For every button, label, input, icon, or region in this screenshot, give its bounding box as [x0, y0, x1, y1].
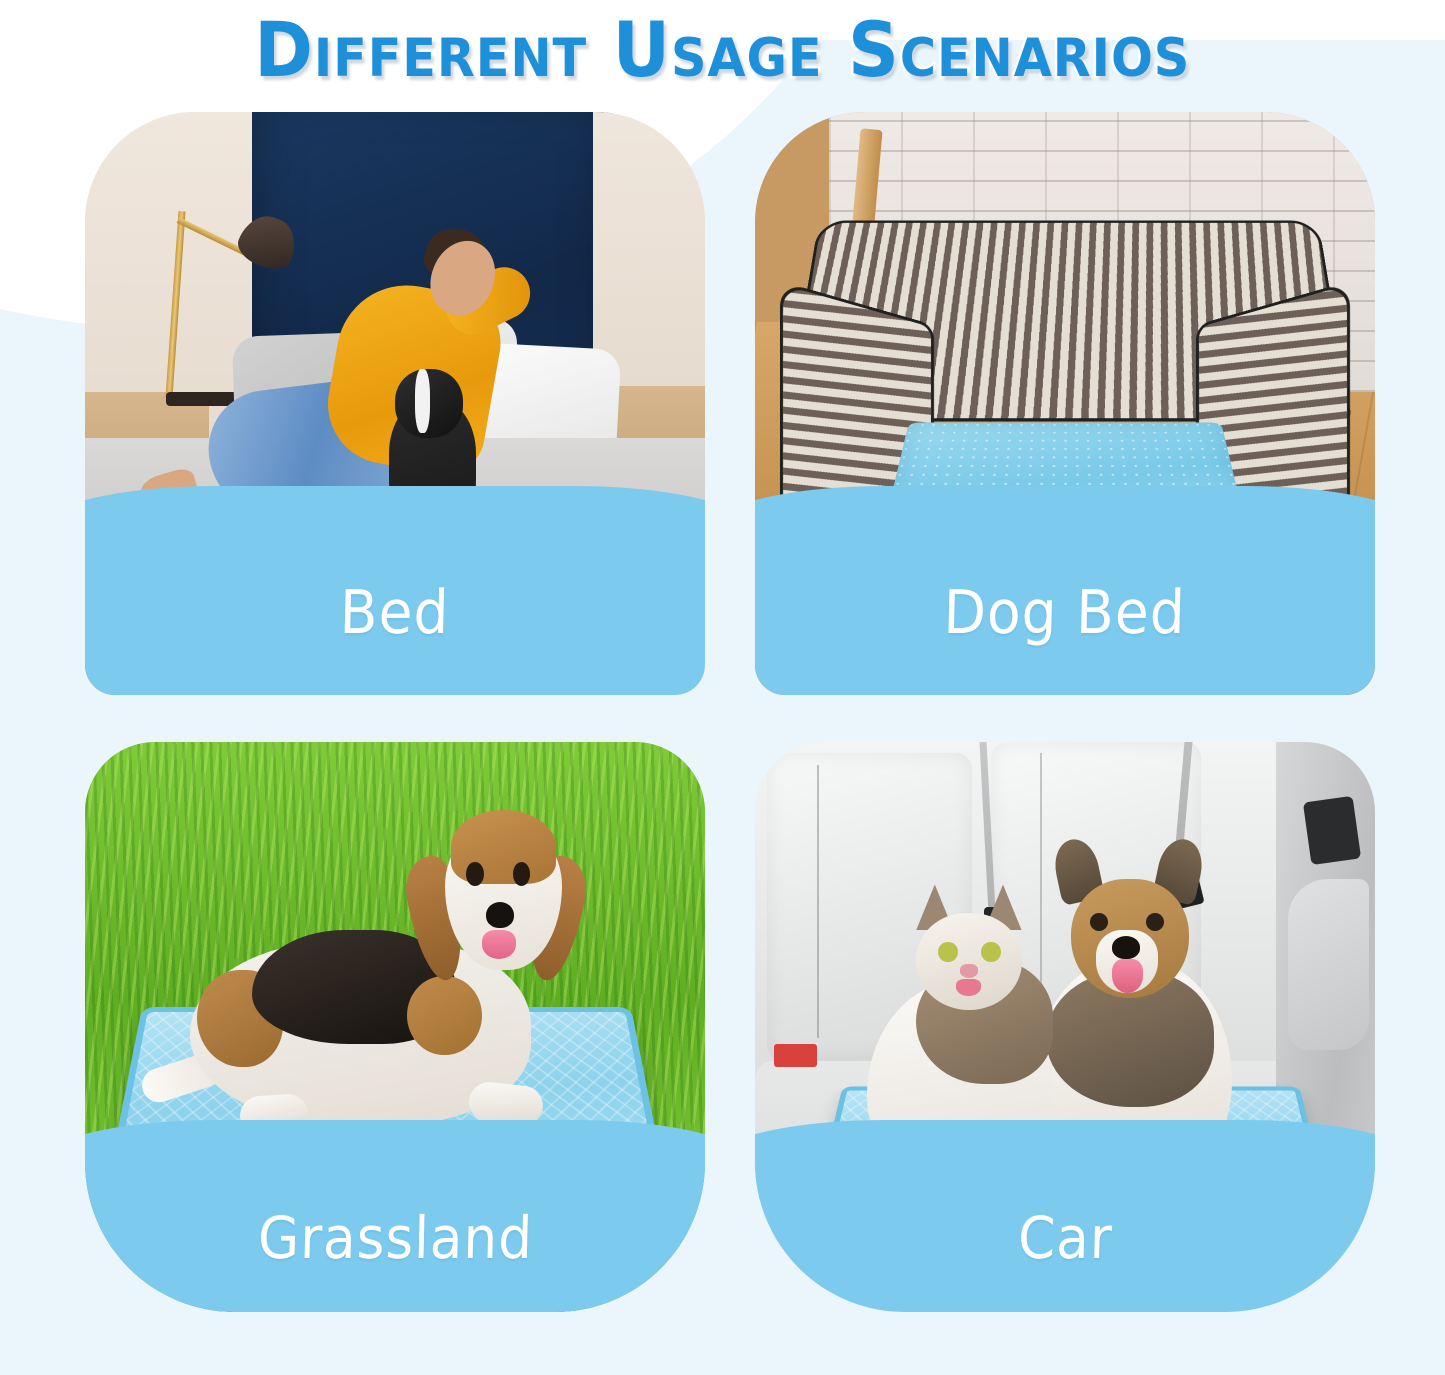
usage-scenarios-poster: Different Usage Scenarios — [0, 0, 1445, 1375]
scenario-grid: Bed Dog Be — [85, 112, 1375, 1312]
scenario-label-strip-bed: Bed — [85, 530, 705, 695]
scenario-label-grassland: Grassland — [257, 1208, 534, 1268]
scenario-label-strip-dog-bed: Dog Bed — [755, 530, 1375, 695]
scenario-card-car[interactable]: Car — [755, 742, 1375, 1312]
scenario-card-dog-bed[interactable]: Dog Bed — [755, 112, 1375, 695]
scenario-card-bed[interactable]: Bed — [85, 112, 705, 695]
scenario-label-dog-bed: Dog Bed — [943, 583, 1187, 643]
scenario-card-grassland[interactable]: Grassland — [85, 742, 705, 1312]
scenario-label-strip-car: Car — [755, 1164, 1375, 1312]
scenario-label-bed: Bed — [339, 583, 450, 643]
scenario-label-strip-grassland: Grassland — [85, 1164, 705, 1312]
page-title-container: Different Usage Scenarios — [0, 2, 1445, 98]
scenario-label-car: Car — [1017, 1208, 1113, 1268]
page-title: Different Usage Scenarios — [254, 7, 1190, 93]
